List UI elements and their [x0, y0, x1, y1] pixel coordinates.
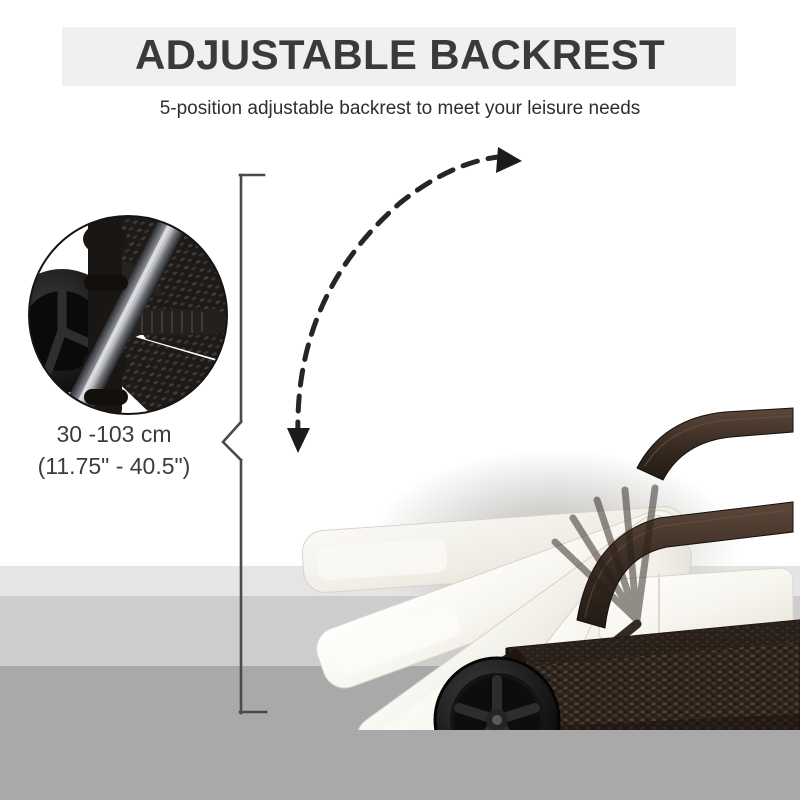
dimension-bracket	[218, 160, 308, 730]
page-subtitle: 5-position adjustable backrest to meet y…	[0, 96, 800, 122]
dimension-metric: 30 -103 cm	[8, 418, 220, 450]
dimension-imperial: (11.75" - 40.5")	[8, 450, 220, 482]
dimension-label: 30 -103 cm (11.75" - 40.5")	[8, 418, 220, 482]
rotation-arrow-icon	[270, 145, 530, 455]
product-feature-slide: ADJUSTABLE BACKREST 5-position adjustabl…	[0, 0, 800, 800]
page-title: ADJUSTABLE BACKREST	[0, 24, 800, 86]
detail-closeup-inset	[26, 213, 230, 417]
armrest-rail-upper	[637, 408, 793, 480]
